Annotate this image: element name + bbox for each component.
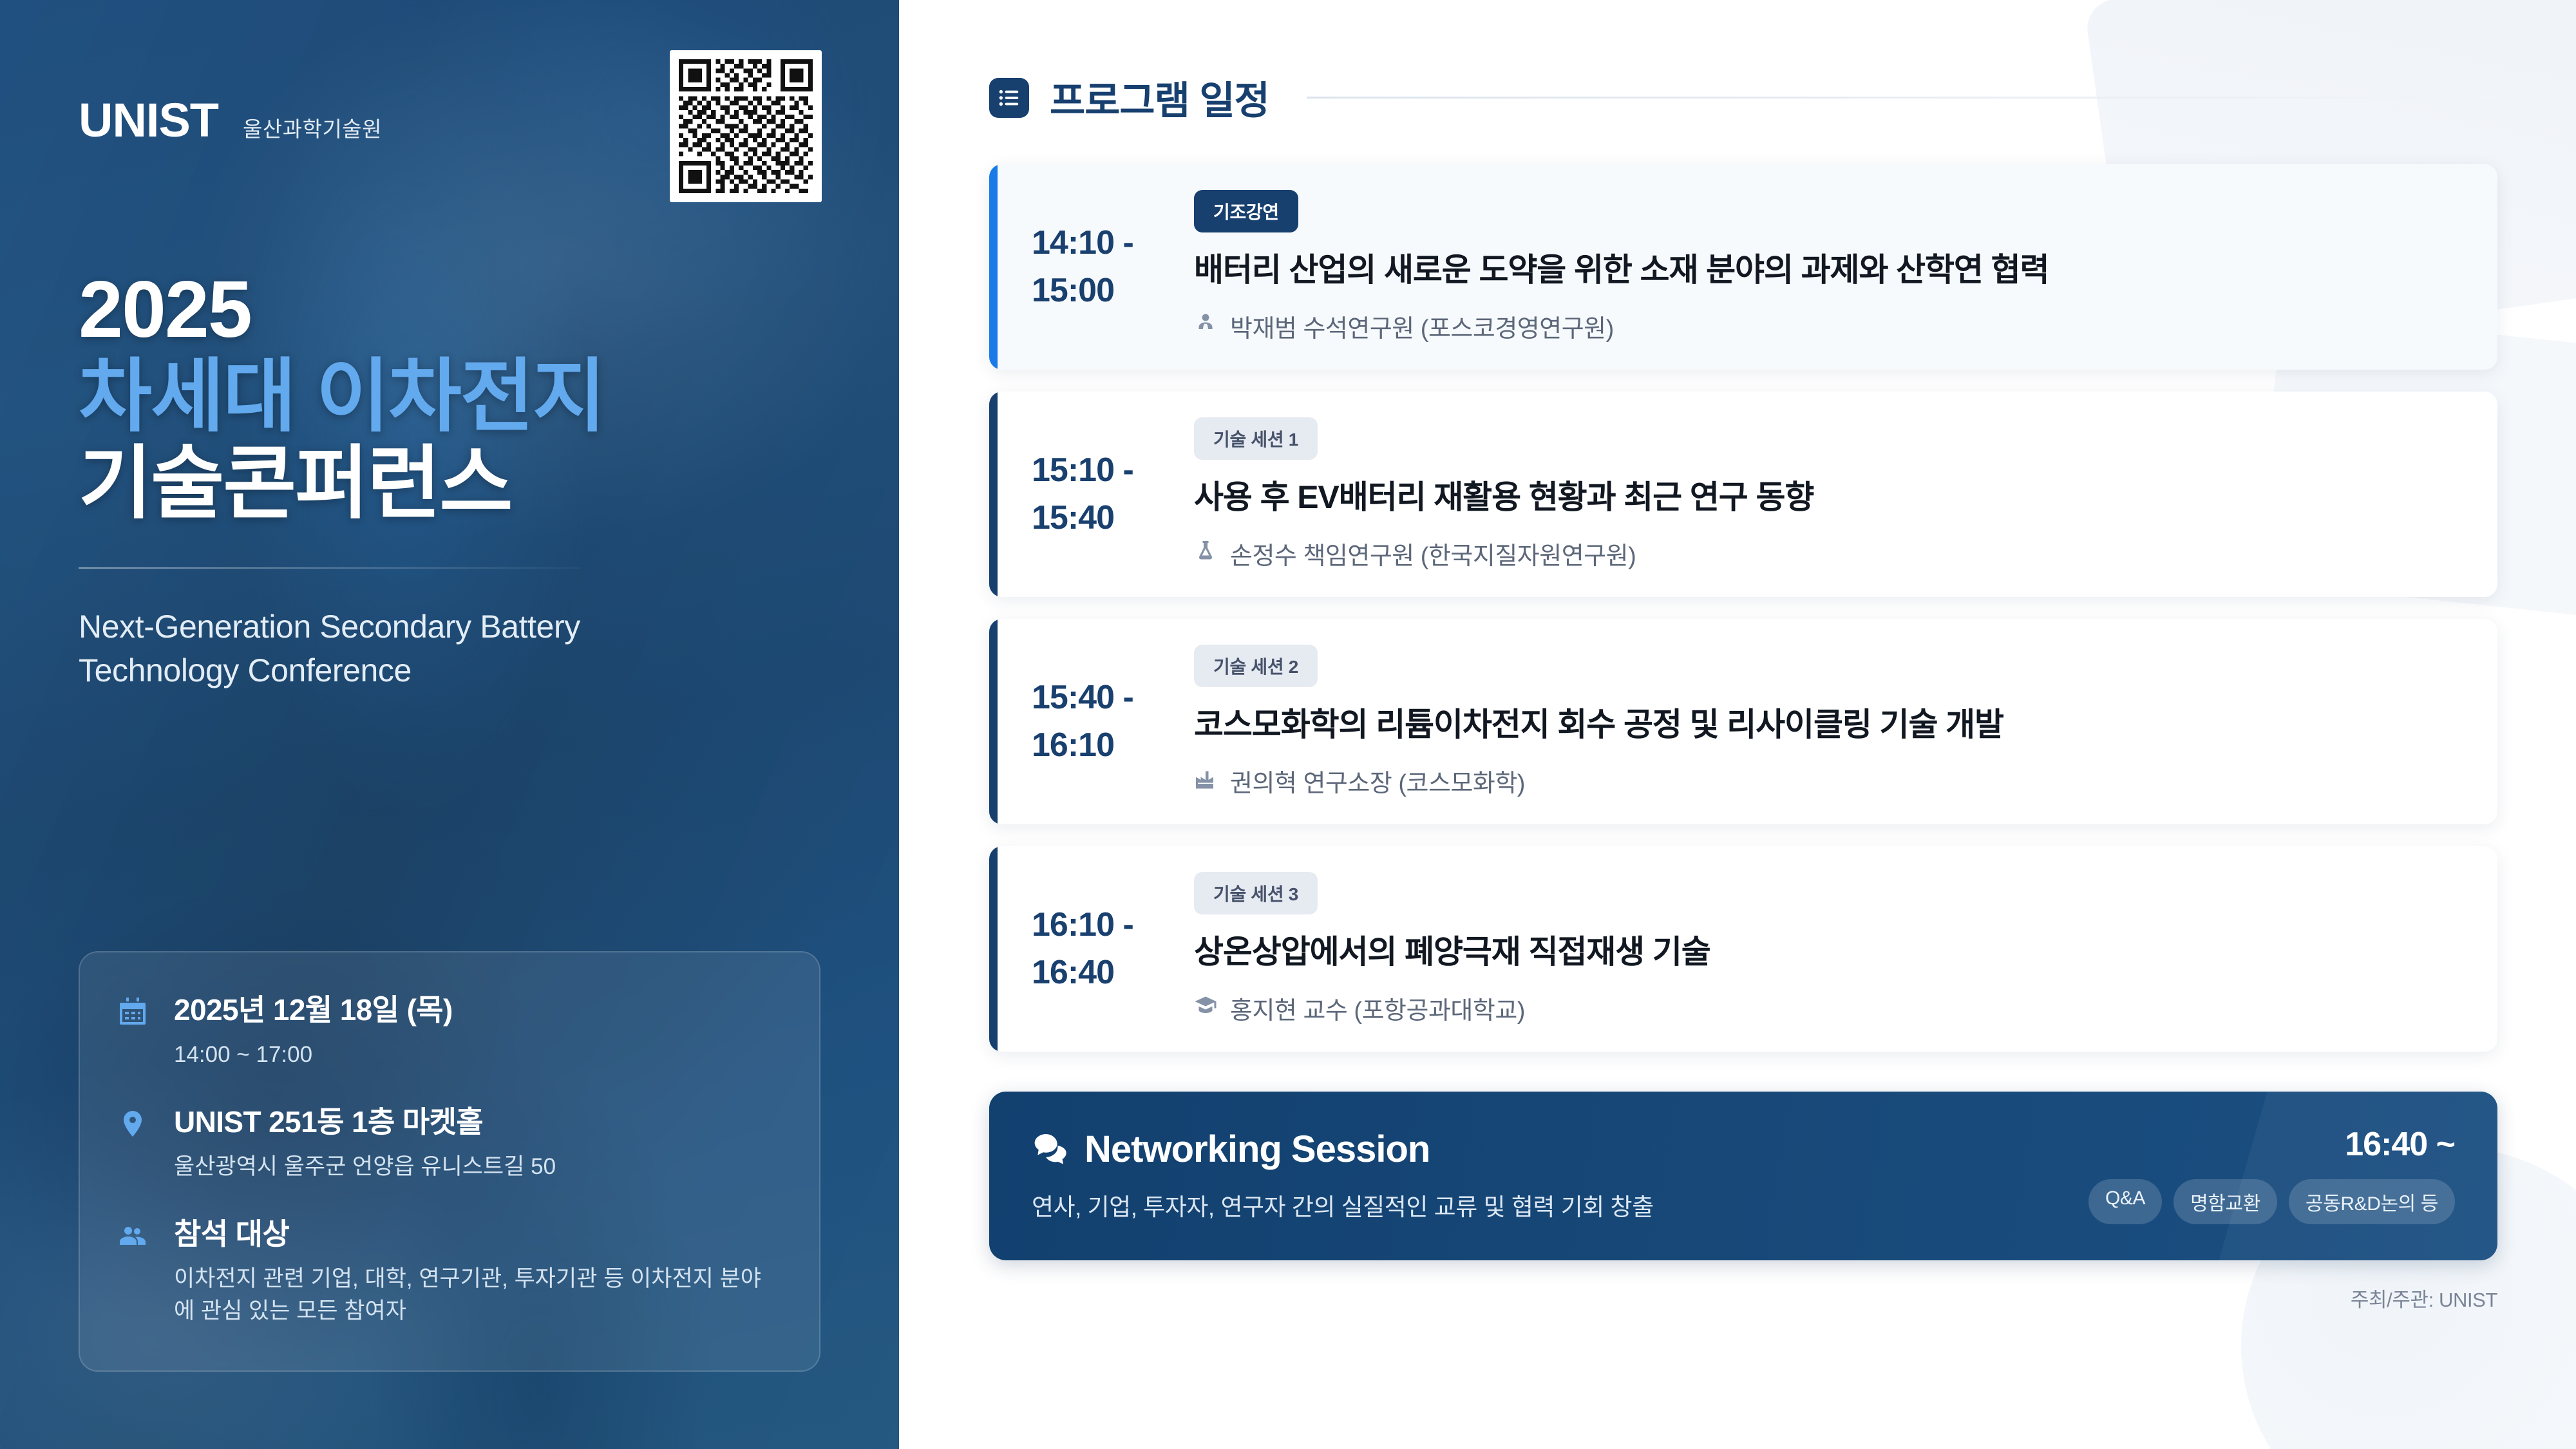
session-speaker: 권의혁 연구소장 (코스모화학) [1230, 763, 1525, 799]
session-badge: 기술 세션 3 [1194, 872, 1318, 914]
english-subtitle-line1: Next-Generation Secondary Battery [79, 605, 820, 649]
session-speaker-row: 손정수 책임연구원 (한국지질자원연구원) [1194, 536, 2463, 571]
session-time-end: 16:10 [1032, 722, 1194, 770]
session-speaker-row: 홍지현 교수 (포항공과대학교) [1194, 990, 2463, 1026]
info-row-date: 2025년 12월 18일 (목) 14:00 ~ 17:00 [117, 992, 782, 1071]
graduation-cap-icon [1194, 994, 1217, 1023]
session-card-technical-1[interactable]: 15:10 - 15:40 기술 세션 1 사용 후 EV배터리 재활용 현황과… [989, 392, 2497, 597]
event-info-card: 2025년 12월 18일 (목) 14:00 ~ 17:00 UNIST 25… [79, 951, 820, 1372]
brand-mark: UNIST [79, 97, 218, 144]
info-row-venue: UNIST 251동 1층 마켓홀 울산광역시 울주군 언양읍 유니스트길 50 [117, 1104, 782, 1183]
session-speaker-row: 박재범 수석연구원 (포스코경영연구원) [1194, 308, 2463, 344]
session-time-start: 15:40 - [1032, 674, 1194, 722]
session-time: 15:10 - 15:40 [989, 447, 1194, 542]
section-header-rule [1307, 97, 2497, 99]
title-line-sub: 기술콘퍼런스 [79, 440, 820, 527]
session-card-technical-3[interactable]: 16:10 - 16:40 기술 세션 3 상온상압에서의 폐양극재 직접재생 … [989, 846, 2497, 1052]
left-hero-panel: UNIST 울산과학기술원 2025 차세대 이차전지 기술콘퍼런스 Next-… [0, 0, 899, 1449]
english-subtitle-line2: Technology Conference [79, 649, 820, 692]
session-title: 배터리 산업의 새로운 도약을 위한 소재 분야의 과제와 산학연 협력 [1194, 249, 2463, 290]
session-list: 14:10 - 15:00 기조강연 배터리 산업의 새로운 도약을 위한 소재… [989, 164, 2497, 1052]
session-badge: 기술 세션 1 [1194, 417, 1318, 460]
session-time-start: 16:10 - [1032, 902, 1194, 949]
session-speaker: 박재범 수석연구원 (포스코경영연구원) [1230, 308, 1614, 344]
program-panel: 프로그램 일정 14:10 - 15:00 기조강연 배터리 산업의 새로운 도… [899, 0, 2576, 1449]
session-time-end: 16:40 [1032, 949, 1194, 997]
map-pin-icon [117, 1104, 152, 1183]
title-divider [79, 567, 581, 569]
session-title: 상온상압에서의 폐양극재 직접재생 기술 [1194, 931, 2463, 972]
session-badge: 기조강연 [1194, 190, 1298, 232]
networking-tag: 명함교환 [2173, 1179, 2277, 1224]
networking-title: Networking Session [1084, 1128, 1430, 1171]
session-accent-bar [989, 164, 998, 370]
host-credit: 주최/주관: UNIST [989, 1283, 2497, 1312]
info-row-audience: 참석 대상 이차전지 관련 기업, 대학, 연구기관, 투자기관 등 이차전지 … [117, 1217, 782, 1328]
program-section-header: 프로그램 일정 [989, 70, 2497, 126]
session-time-end: 15:40 [1032, 495, 1194, 542]
chat-bubbles-icon [1032, 1130, 1068, 1169]
networking-tag-list: Q&A 명함교환 공동R&D논의 등 [2088, 1179, 2455, 1224]
session-speaker: 손정수 책임연구원 (한국지질자원연구원) [1230, 536, 1636, 571]
english-subtitle: Next-Generation Secondary Battery Techno… [79, 605, 820, 692]
session-title: 코스모화학의 리튬이차전지 회수 공정 및 리사이클링 기술 개발 [1194, 704, 2463, 745]
session-time-start: 14:10 - [1032, 220, 1194, 267]
session-time: 15:40 - 16:10 [989, 674, 1194, 770]
calendar-icon [117, 992, 152, 1071]
session-speaker: 홍지현 교수 (포항공과대학교) [1230, 990, 1525, 1026]
networking-tag: Q&A [2088, 1179, 2162, 1224]
factory-icon [1194, 766, 1217, 796]
people-icon [117, 1217, 152, 1328]
title-line-year: 2025 [79, 267, 820, 354]
info-audience-sub: 이차전지 관련 기업, 대학, 연구기관, 투자기관 등 이차전지 분야에 관심… [174, 1263, 782, 1329]
info-venue-sub: 울산광역시 울주군 언양읍 유니스트길 50 [174, 1151, 556, 1184]
title-line-main: 차세대 이차전지 [79, 354, 820, 440]
info-date-sub: 14:00 ~ 17:00 [174, 1039, 453, 1072]
networking-subtitle: 연사, 기업, 투자자, 연구자 간의 실질적인 교류 및 협력 기회 창출 [1032, 1188, 2088, 1222]
networking-time: 16:40 ~ [2088, 1125, 2455, 1164]
session-speaker-row: 권의혁 연구소장 (코스모화학) [1194, 763, 2463, 799]
info-date-head: 2025년 12월 18일 (목) [174, 992, 453, 1028]
conference-poster: UNIST 울산과학기술원 2025 차세대 이차전지 기술콘퍼런스 Next-… [0, 0, 2576, 1449]
session-accent-bar [989, 392, 998, 597]
person-tie-icon [1194, 312, 1217, 341]
info-venue-head: UNIST 251동 1층 마켓홀 [174, 1104, 556, 1140]
info-audience-head: 참석 대상 [174, 1217, 782, 1252]
brand-sub: 울산과학기술원 [243, 112, 382, 143]
session-accent-bar [989, 846, 998, 1052]
session-card-technical-2[interactable]: 15:40 - 16:10 기술 세션 2 코스모화학의 리튬이차전지 회수 공… [989, 619, 2497, 824]
page-title: 2025 차세대 이차전지 기술콘퍼런스 [79, 267, 820, 527]
qr-code[interactable] [670, 50, 822, 202]
session-time: 14:10 - 15:00 [989, 220, 1194, 315]
session-accent-bar [989, 619, 998, 824]
session-card-keynote[interactable]: 14:10 - 15:00 기조강연 배터리 산업의 새로운 도약을 위한 소재… [989, 164, 2497, 370]
session-time-start: 15:10 - [1032, 447, 1194, 495]
networking-session-banner[interactable]: Networking Session 연사, 기업, 투자자, 연구자 간의 실… [989, 1092, 2497, 1260]
session-time: 16:10 - 16:40 [989, 902, 1194, 997]
networking-tag: 공동R&D논의 등 [2289, 1179, 2455, 1224]
session-title: 사용 후 EV배터리 재활용 현황과 최근 연구 동향 [1194, 477, 2463, 518]
page-section-title: 프로그램 일정 [1050, 70, 1269, 126]
flask-icon [1194, 539, 1217, 569]
list-icon [989, 78, 1029, 118]
session-time-end: 15:00 [1032, 267, 1194, 315]
session-badge: 기술 세션 2 [1194, 645, 1318, 687]
